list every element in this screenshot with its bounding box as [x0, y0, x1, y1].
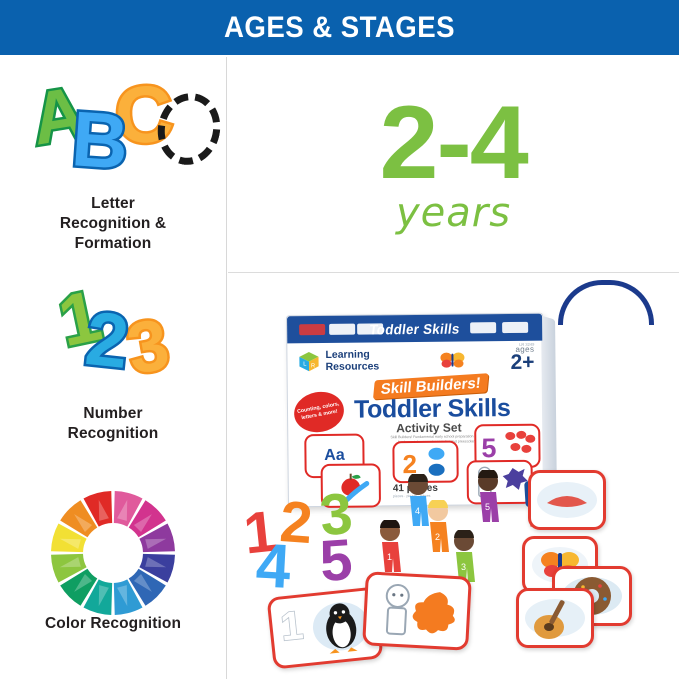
foam-number-5: 5	[318, 531, 354, 591]
promo-burst-text: Counting, colors, letters & more!	[293, 401, 345, 424]
age-range-block: 2-4 years	[228, 57, 679, 272]
guitar-icon	[519, 591, 591, 645]
ages-and-stages-infographic: AGES & STAGES A C B Letter Recognition &…	[0, 0, 679, 679]
svg-text:1: 1	[387, 552, 392, 562]
feature-label-numbers: Number Recognition	[68, 404, 159, 444]
ghost-number-1: 1	[279, 605, 305, 647]
figurine-5: 5	[474, 470, 502, 532]
features-column: A C B Letter Recognition & Formation 1 3…	[0, 57, 226, 679]
box-rope-handle	[558, 280, 654, 325]
box-top-chip	[470, 322, 496, 333]
box-top-chip	[329, 324, 355, 335]
box-top-chip	[502, 322, 528, 333]
guitar-card	[516, 588, 594, 648]
box-top-title: Toddler Skills	[368, 320, 460, 337]
vertical-divider	[226, 57, 227, 679]
figure-and-orange-splat-icon	[365, 574, 468, 647]
ages-value: 2+	[510, 352, 534, 373]
feature-letter-recognition: A C B Letter Recognition & Formation	[0, 63, 226, 253]
age-range-value: 2-4	[380, 96, 527, 192]
brand-line-2: Resources	[325, 361, 379, 373]
label-line: Recognition &	[60, 214, 166, 234]
numbers-123-icon: 1 3 2	[18, 273, 208, 398]
page-title: AGES & STAGES	[224, 13, 455, 43]
svg-text:L: L	[303, 361, 306, 367]
learning-resources-logo: L R Learning Resources	[297, 349, 379, 373]
abc-letters-icon: A C B	[18, 63, 208, 188]
svg-text:3: 3	[461, 562, 466, 572]
label-line: Number	[68, 404, 159, 424]
number-2-glyph: 2	[82, 301, 132, 381]
figurine-2: 2	[424, 500, 452, 562]
header-banner: AGES & STAGES	[0, 0, 679, 55]
box-top-chip	[299, 324, 325, 335]
color-wheel-svg	[45, 485, 181, 621]
product-photo: Toddler Skills L R Learning Resources	[228, 274, 679, 679]
box-product-subtitle: Activity Set	[396, 421, 462, 436]
stack-top-card-icon	[531, 473, 603, 527]
label-line: Recognition	[68, 424, 159, 444]
label-line: Formation	[60, 234, 166, 254]
svg-text:5: 5	[481, 433, 496, 463]
brand-name: Learning Resources	[325, 350, 379, 373]
cube-logo-icon: L R	[297, 350, 320, 373]
feature-number-recognition: 1 3 2 Number Recognition	[0, 273, 226, 444]
label-line: Letter	[60, 194, 166, 214]
feature-label-letters: Letter Recognition & Formation	[60, 194, 166, 253]
promo-burst: Counting, colors, letters & more!	[291, 388, 348, 437]
svg-text:R: R	[311, 363, 315, 369]
feature-color-recognition: Color Recognition	[0, 483, 226, 634]
ages-badge: ages 2+	[510, 346, 534, 373]
foam-number-4: 4	[254, 535, 292, 599]
svg-text:2: 2	[435, 532, 440, 542]
card-stack	[528, 470, 606, 530]
splat-card	[362, 571, 472, 650]
box-top-panel: Toddler Skills	[287, 314, 542, 344]
svg-text:4: 4	[415, 506, 420, 516]
butterfly-icon	[439, 350, 465, 368]
svg-text:5: 5	[485, 502, 490, 512]
horizontal-divider	[228, 272, 679, 273]
color-wheel-icon	[18, 483, 208, 608]
letter-b-glyph: B	[69, 99, 131, 181]
